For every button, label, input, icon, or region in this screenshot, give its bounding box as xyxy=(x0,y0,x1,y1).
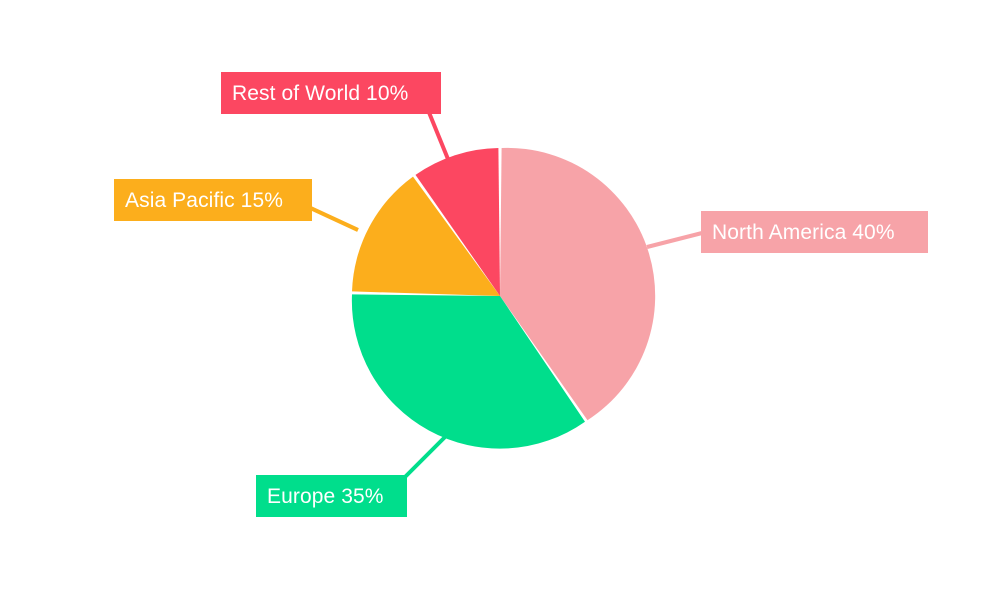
pie-label-north-america-text: North America 40% xyxy=(712,222,895,243)
pie-label-asia-pacific[interactable]: Asia Pacific 15% xyxy=(114,179,312,221)
leader-line-north-america xyxy=(647,232,706,247)
pie-chart-figure: North America 40% Europe 35% Asia Pacifi… xyxy=(0,0,1000,600)
pie-chart-canvas xyxy=(0,0,1000,600)
pie-label-rest-of-world[interactable]: Rest of World 10% xyxy=(221,72,441,114)
leader-line-rest-of-world xyxy=(428,110,450,164)
pie-label-asia-pacific-text: Asia Pacific 15% xyxy=(125,190,283,211)
pie-label-north-america[interactable]: North America 40% xyxy=(701,211,928,253)
pie-label-europe-text: Europe 35% xyxy=(267,486,384,507)
leader-line-europe xyxy=(404,435,447,478)
pie-label-europe[interactable]: Europe 35% xyxy=(256,475,407,517)
pie-label-rest-of-world-text: Rest of World 10% xyxy=(232,83,408,104)
pie-slices xyxy=(352,148,655,449)
leader-line-asia-pacific xyxy=(304,205,358,230)
